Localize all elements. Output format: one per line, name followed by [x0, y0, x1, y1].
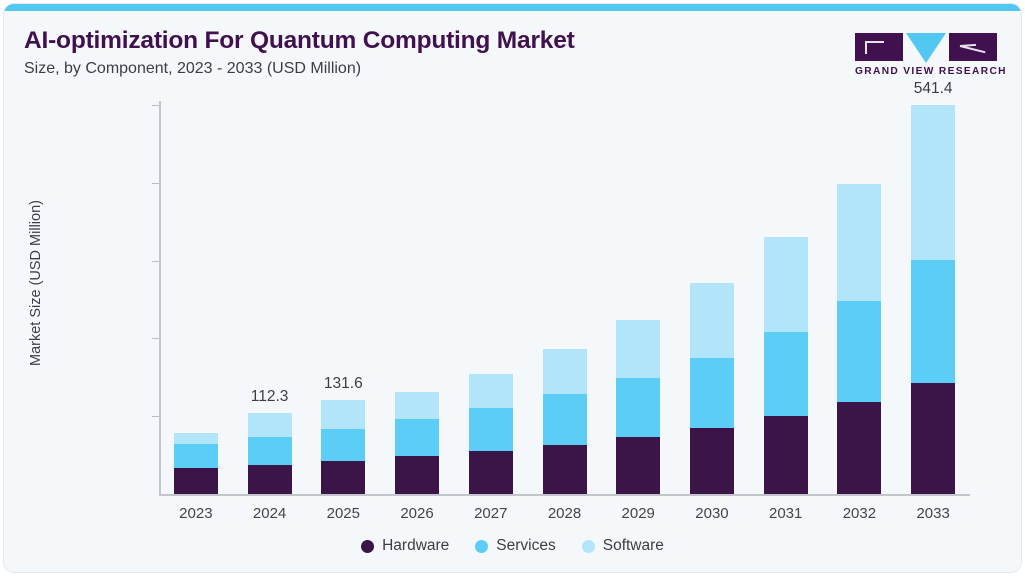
x-axis-tick-label: 2029	[598, 505, 678, 522]
x-axis-tick-label: 2032	[819, 505, 899, 522]
bar-value-label-2033: 541.4	[883, 80, 983, 98]
x-axis-tick-label: 2033	[893, 505, 973, 522]
bar-segment-services[interactable]	[764, 332, 808, 416]
chart-legend: HardwareServicesSoftware	[4, 537, 1021, 555]
y-axis-tick-mark	[152, 416, 159, 417]
bar-segment-services[interactable]	[321, 429, 365, 461]
x-axis-tick-label: 2030	[672, 505, 752, 522]
legend-item-software[interactable]: Software	[582, 537, 664, 555]
x-axis-tick-label: 2024	[230, 505, 310, 522]
bar-segment-software[interactable]	[469, 374, 513, 408]
bar-stack-2031[interactable]	[764, 105, 808, 494]
bar-segment-software[interactable]	[321, 400, 365, 429]
bar-segment-services[interactable]	[395, 419, 439, 456]
bar-segment-hardware[interactable]	[395, 456, 439, 494]
bar-stack-2023[interactable]	[174, 105, 218, 494]
bar-stack-2026[interactable]	[395, 105, 439, 494]
bar-segment-services[interactable]	[616, 378, 660, 437]
bar-stack-2029[interactable]	[616, 105, 660, 494]
bar-segment-hardware[interactable]	[911, 383, 955, 494]
bar-segment-services[interactable]	[543, 394, 587, 444]
bar-segment-services[interactable]	[837, 301, 881, 402]
bar-segment-software[interactable]	[395, 392, 439, 420]
bar-segment-hardware[interactable]	[248, 465, 292, 494]
x-axis-tick-label: 2027	[451, 505, 531, 522]
x-axis-tick-label: 2025	[303, 505, 383, 522]
bar-stack-2033[interactable]	[911, 105, 955, 494]
bar-segment-software[interactable]	[543, 349, 587, 394]
bar-stack-2028[interactable]	[543, 105, 587, 494]
legend-item-services[interactable]: Services	[475, 537, 555, 555]
x-axis-tick-label: 2028	[525, 505, 605, 522]
x-axis-tick-label: 2026	[377, 505, 457, 522]
y-axis-title: Market Size (USD Million)	[28, 123, 44, 443]
y-axis-tick-mark	[152, 183, 159, 184]
y-axis-tick-mark	[152, 105, 159, 106]
bar-segment-software[interactable]	[690, 283, 734, 358]
bar-segment-software[interactable]	[248, 413, 292, 437]
legend-swatch-icon	[361, 540, 374, 553]
bar-segment-hardware[interactable]	[616, 437, 660, 494]
bar-stack-2025[interactable]	[321, 105, 365, 494]
legend-swatch-icon	[582, 540, 595, 553]
chart-card: AI-optimization For Quantum Computing Ma…	[4, 4, 1021, 572]
bar-segment-hardware[interactable]	[469, 451, 513, 494]
bar-segment-hardware[interactable]	[764, 416, 808, 494]
bar-segment-hardware[interactable]	[690, 428, 734, 494]
y-axis-tick-mark	[152, 338, 159, 339]
bar-value-label-2025: 131.6	[293, 375, 393, 393]
bar-segment-software[interactable]	[616, 320, 660, 378]
bar-segment-hardware[interactable]	[837, 402, 881, 494]
bar-segment-services[interactable]	[469, 408, 513, 451]
legend-swatch-icon	[475, 540, 488, 553]
x-axis-tick-label: 2031	[746, 505, 826, 522]
bar-stack-2024[interactable]	[248, 105, 292, 494]
bar-segment-software[interactable]	[174, 433, 218, 444]
legend-label: Hardware	[382, 537, 449, 555]
bar-segment-services[interactable]	[911, 260, 955, 383]
y-axis-line	[159, 101, 161, 494]
chart-plot-area: Market Size (USD Million) 20232024202520…	[4, 4, 1021, 572]
bar-segment-services[interactable]	[174, 444, 218, 468]
legend-label: Software	[603, 537, 664, 555]
bar-stack-2032[interactable]	[837, 105, 881, 494]
bar-segment-hardware[interactable]	[543, 445, 587, 494]
x-axis-line	[159, 494, 970, 496]
bar-segment-hardware[interactable]	[174, 468, 218, 494]
bar-stack-2027[interactable]	[469, 105, 513, 494]
legend-item-hardware[interactable]: Hardware	[361, 537, 449, 555]
bar-segment-services[interactable]	[248, 437, 292, 465]
y-axis-tick-mark	[152, 261, 159, 262]
bar-segment-software[interactable]	[837, 184, 881, 300]
bar-segment-software[interactable]	[764, 237, 808, 332]
bar-segment-services[interactable]	[690, 358, 734, 428]
x-axis-tick-label: 2023	[156, 505, 236, 522]
bar-segment-hardware[interactable]	[321, 461, 365, 494]
legend-label: Services	[496, 537, 555, 555]
bar-stack-2030[interactable]	[690, 105, 734, 494]
bar-segment-software[interactable]	[911, 105, 955, 259]
